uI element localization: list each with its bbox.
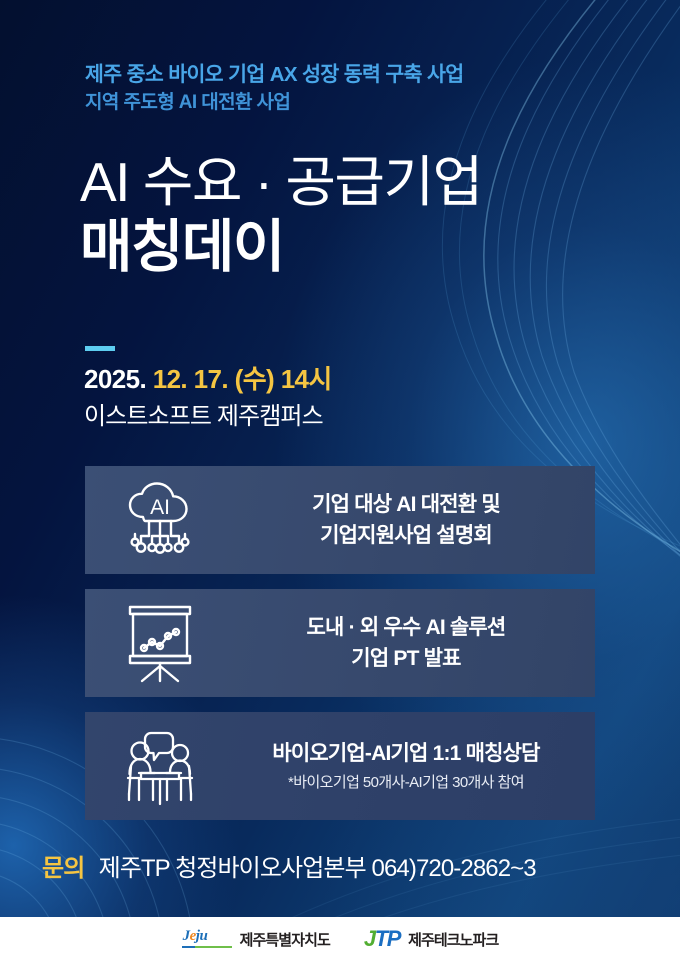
page-title: AI 수요 · 공급기업 매칭데이 <box>80 152 482 281</box>
event-venue: 이스트소프트 제주캠퍼스 <box>84 400 332 434</box>
jeju-logo-letters: Jeju <box>183 928 208 945</box>
main-title-line-2: 매칭데이 <box>80 214 482 281</box>
program-title-line-2: 지역 주도형 AI 대전환 사업 <box>85 89 463 118</box>
info-card-text: 도내 · 외 우수 AI 솔루션 기업 PT 발표 <box>235 612 595 675</box>
jeju-province-name: 제주특별자치도 <box>240 929 330 950</box>
jeju-logo-underline <box>182 946 232 949</box>
info-card: AI 기업 대상 AI 대전환 <box>85 466 595 574</box>
event-datetime-block: 2025. 12. 17. (수) 14시 이스트소프트 제주캠퍼스 <box>84 362 332 434</box>
info-card-list: AI 기업 대상 AI 대전환 <box>85 466 595 835</box>
accent-dash <box>85 346 115 351</box>
jtp-logo-tp: TP <box>375 926 400 951</box>
ai-cloud-icon: AI <box>85 466 235 574</box>
info-card-line-1: 도내 · 외 우수 AI 솔루션 <box>235 612 577 644</box>
jtp-logo-mark: JTP <box>364 926 400 952</box>
contact-value: 제주TP 청정바이오사업본부 064)720-2862~3 <box>99 848 536 883</box>
poster-root: 제주 중소 바이오 기업 AX 성장 동력 구축 사업 지역 주도형 AI 대전… <box>0 0 680 961</box>
jeju-logo-mark: Jeju <box>182 929 232 949</box>
subtitle-block: 제주 중소 바이오 기업 AX 성장 동력 구축 사업 지역 주도형 AI 대전… <box>85 60 463 118</box>
info-card-text: 바이오기업-AI기업 1:1 매칭상담 *바이오기업 50개사-AI기업 30개… <box>235 738 595 795</box>
info-card-line-2: 기업 PT 발표 <box>235 643 577 675</box>
jtp-name: 제주테크노파크 <box>408 929 498 950</box>
jtp-logo: JTP 제주테크노파크 <box>364 926 498 952</box>
contact-block: 문의 제주TP 청정바이오사업본부 064)720-2862~3 <box>42 848 536 883</box>
info-card-line-1: 바이오기업-AI기업 1:1 매칭상담 <box>235 738 577 770</box>
main-title-line-1: AI 수요 · 공급기업 <box>80 152 482 214</box>
info-card-text: 기업 대상 AI 대전환 및 기업지원사업 설명회 <box>235 489 595 552</box>
jtp-logo-j: J <box>364 926 375 951</box>
info-card: 바이오기업-AI기업 1:1 매칭상담 *바이오기업 50개사-AI기업 30개… <box>85 712 595 820</box>
program-title-line-1: 제주 중소 바이오 기업 AX 성장 동력 구축 사업 <box>85 60 463 89</box>
jeju-province-logo: Jeju 제주특별자치도 <box>182 929 330 950</box>
event-date-highlight: 12. 17. (수) 14시 <box>153 364 332 394</box>
info-card-line-1: 기업 대상 AI 대전환 및 <box>235 489 577 521</box>
jeju-logo-ju: ju <box>196 928 208 944</box>
svg-text:AI: AI <box>150 496 170 519</box>
meeting-people-icon <box>85 712 235 820</box>
jeju-logo-j: J <box>183 928 190 944</box>
event-date-line: 2025. 12. 17. (수) 14시 <box>84 362 332 397</box>
contact-label: 문의 <box>42 848 85 883</box>
footer-logo-bar: Jeju 제주특별자치도 JTP 제주테크노파크 <box>0 917 680 961</box>
info-card-line-2: 기업지원사업 설명회 <box>235 520 577 552</box>
info-card: 도내 · 외 우수 AI 솔루션 기업 PT 발표 <box>85 589 595 697</box>
event-date-year: 2025. <box>84 364 146 394</box>
presentation-chart-icon <box>85 589 235 697</box>
info-card-note: *바이오기업 50개사-AI기업 30개사 참여 <box>235 771 577 794</box>
